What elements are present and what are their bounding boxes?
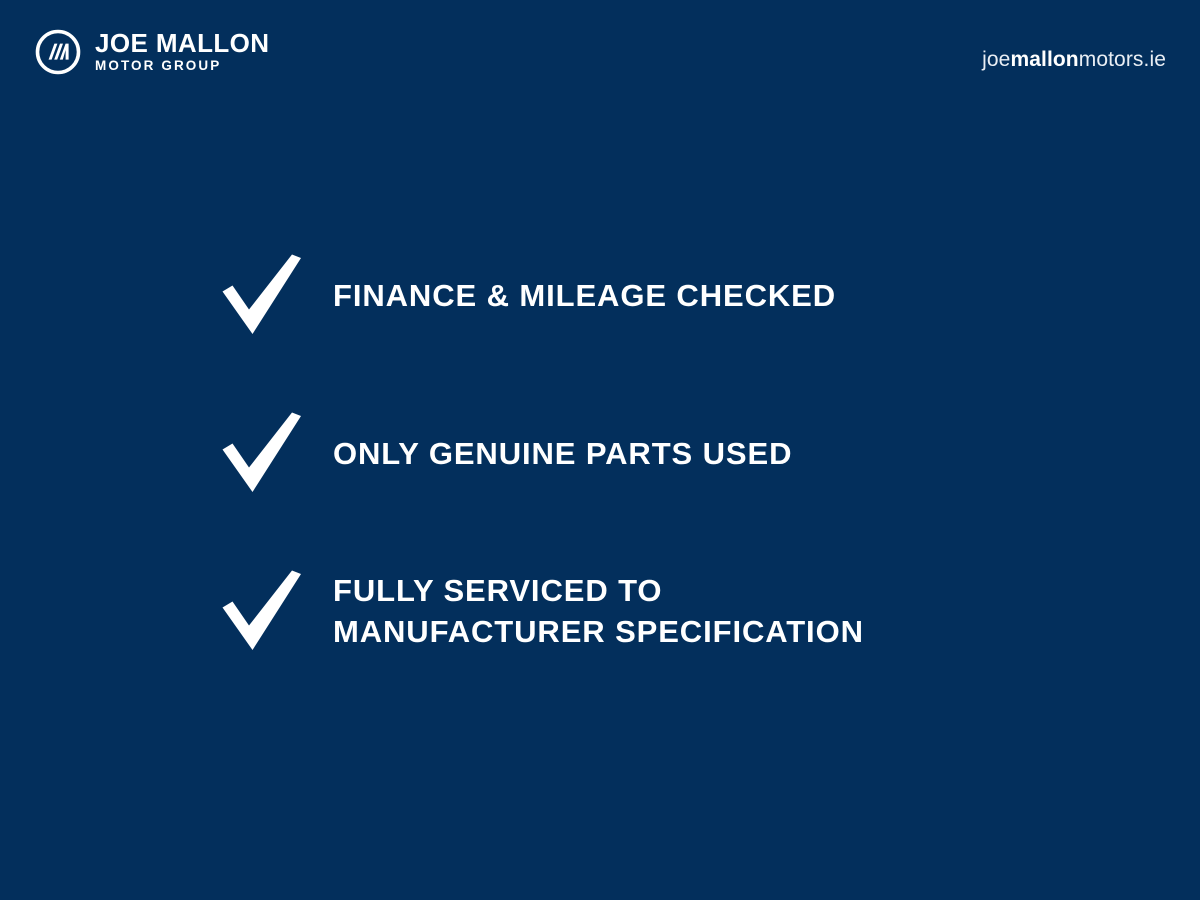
site-url-prefix: joe — [982, 48, 1010, 71]
brand-subtitle: MOTOR GROUP — [95, 58, 269, 75]
checkmark-icon — [218, 568, 308, 656]
joe-mallon-circular-monogram-icon — [34, 28, 82, 76]
promo-banner: JOE MALLON MOTOR GROUP joemallonmotors.i… — [0, 0, 1200, 900]
brand-wordmark: JOE MALLON MOTOR GROUP — [95, 29, 269, 74]
feature-item-finance-mileage: FINANCE & MILEAGE CHECKED — [218, 246, 1118, 346]
feature-item-genuine-parts: ONLY GENUINE PARTS USED — [218, 404, 1118, 504]
feature-label: ONLY GENUINE PARTS USED — [333, 434, 792, 475]
site-url[interactable]: joemallonmotors.ie — [982, 48, 1166, 72]
brand-name: JOE MALLON — [95, 30, 269, 57]
site-url-bold: mallon — [1010, 48, 1078, 71]
feature-label: FINANCE & MILEAGE CHECKED — [333, 276, 836, 317]
banner-header: JOE MALLON MOTOR GROUP joemallonmotors.i… — [0, 0, 1200, 110]
feature-item-fully-serviced: FULLY SERVICED TO MANUFACTURER SPECIFICA… — [218, 562, 1118, 662]
feature-label: FULLY SERVICED TO MANUFACTURER SPECIFICA… — [333, 571, 864, 653]
checkmark-icon — [218, 252, 308, 340]
feature-list: FINANCE & MILEAGE CHECKED ONLY GENUINE P… — [218, 246, 1118, 662]
checkmark-icon — [218, 410, 308, 498]
brand-logo[interactable]: JOE MALLON MOTOR GROUP — [34, 28, 269, 76]
site-url-suffix: motors.ie — [1079, 48, 1166, 71]
